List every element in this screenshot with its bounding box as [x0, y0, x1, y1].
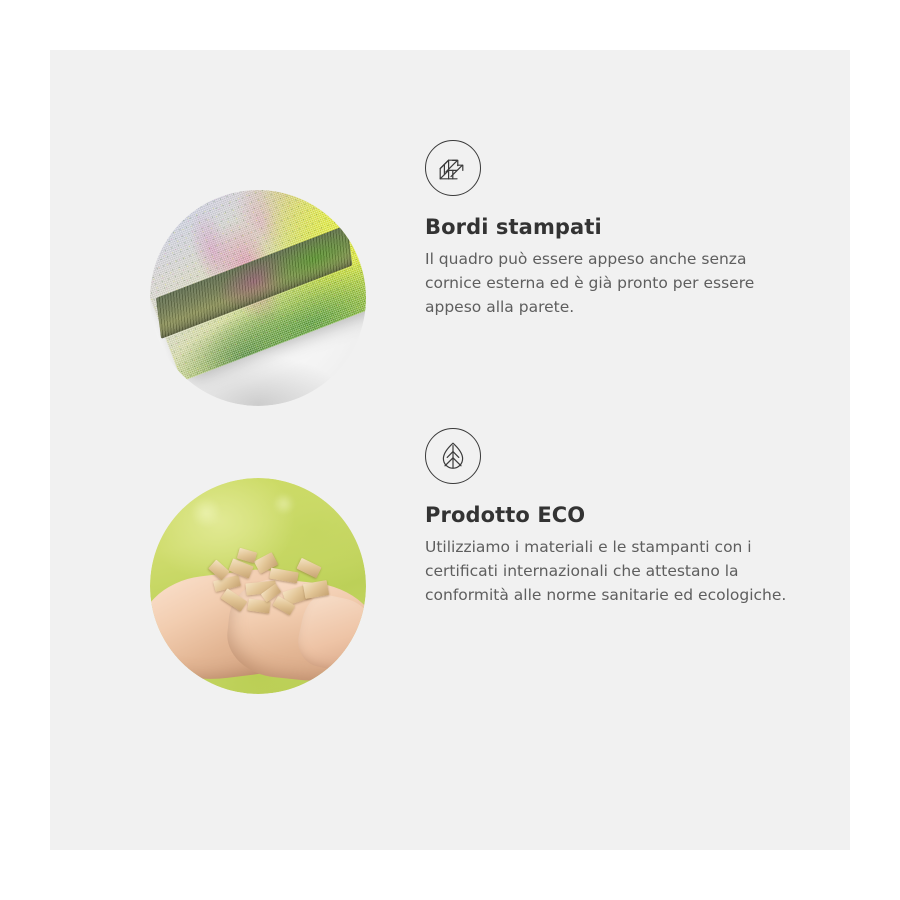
- feature-title: Prodotto ECO: [425, 502, 805, 528]
- feature-text-column-printed-edges: Bordi stampati Il quadro può essere appe…: [425, 140, 805, 319]
- canvas-photo-background: [150, 190, 366, 406]
- wood-chips-in-hands-photo: [150, 478, 366, 694]
- content-panel: Bordi stampati Il quadro può essere appe…: [50, 50, 850, 850]
- feature-description: Il quadro può essere appeso anche senza …: [425, 247, 787, 319]
- feature-description: Utilizziamo i materiali e le stampanti c…: [425, 535, 787, 607]
- feature-text-column-eco-product: Prodotto ECO Utilizziamo i materiali e l…: [425, 428, 805, 607]
- product-feature-infographic: Bordi stampati Il quadro può essere appe…: [0, 0, 900, 900]
- photo-circle-mask: [150, 478, 366, 694]
- eco-photo-background: [150, 478, 366, 694]
- photo-circle-mask: [150, 190, 366, 406]
- wood-chip-pile: [208, 548, 330, 622]
- leaf-icon: [425, 428, 481, 484]
- feature-title: Bordi stampati: [425, 214, 805, 240]
- canvas-print-corner-photo: [150, 190, 366, 406]
- printed-edges-icon: [425, 140, 481, 196]
